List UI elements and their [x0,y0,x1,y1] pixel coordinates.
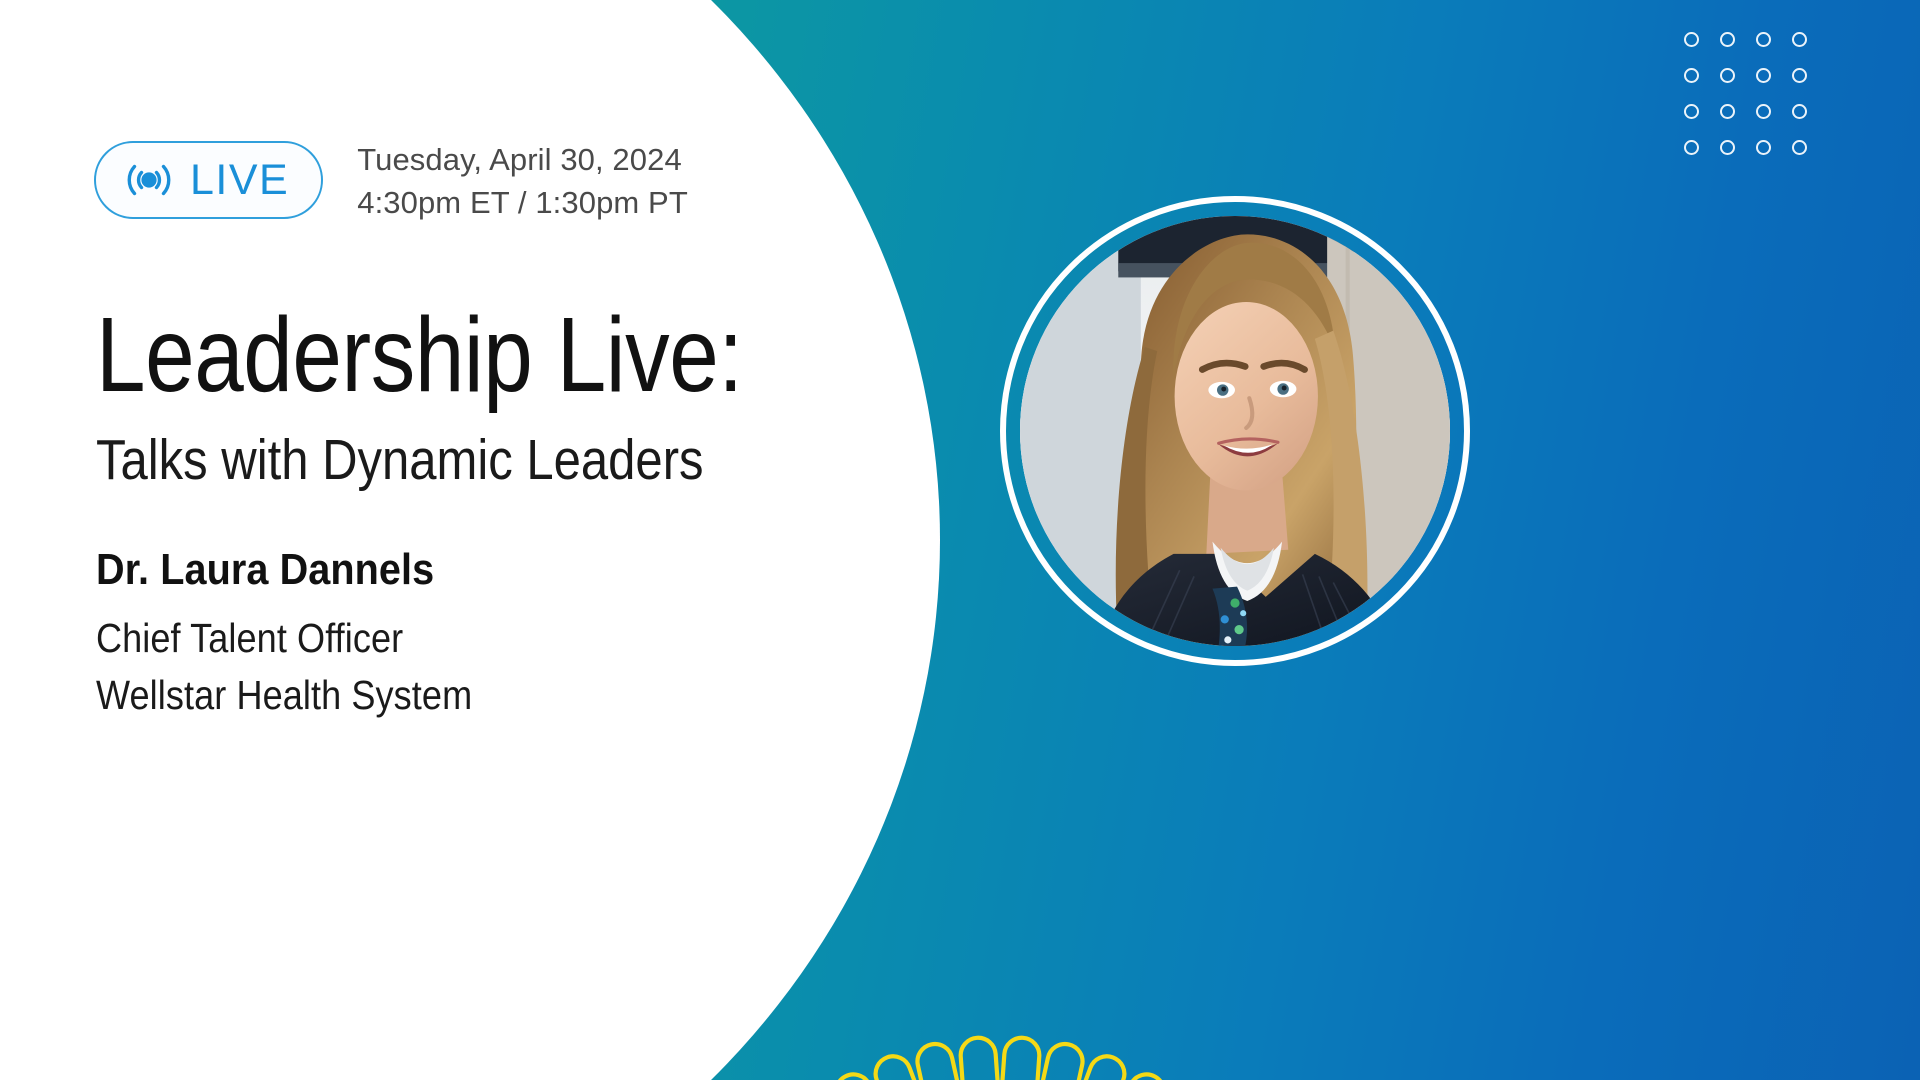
page-subtitle: Talks with Dynamic Leaders [96,418,758,504]
portrait-photo [1020,216,1450,646]
grid-dot [1684,104,1699,119]
grid-dot [1684,140,1699,155]
grid-dot [1720,68,1735,83]
promo-banner: LIVE Tuesday, April 30, 2024 4:30pm ET /… [0,0,1920,1080]
grid-dot [1720,140,1735,155]
title-block: Leadership Live: Talks with Dynamic Lead… [96,300,866,504]
speaker-portrait-ring [1000,196,1470,666]
badge-and-schedule-row: LIVE Tuesday, April 30, 2024 4:30pm ET /… [94,138,688,222]
event-time: 4:30pm ET / 1:30pm PT [357,183,688,223]
grid-dot [1792,140,1807,155]
grid-dot [1756,104,1771,119]
speaker-organization: Wellstar Health System [96,667,472,724]
event-date: Tuesday, April 30, 2024 [357,140,688,180]
speaker-role: Chief Talent Officer [96,610,472,667]
grid-dot [1792,104,1807,119]
content-column: LIVE Tuesday, April 30, 2024 4:30pm ET /… [94,0,894,1080]
grid-dot [1756,140,1771,155]
broadcast-signal-icon [122,157,176,203]
avatar [1020,216,1450,646]
speaker-block: Dr. Laura Dannels Chief Talent Officer W… [96,544,524,725]
grid-dot [1720,104,1735,119]
schedule-block: Tuesday, April 30, 2024 4:30pm ET / 1:30… [357,138,688,222]
grid-dot [1756,32,1771,47]
grid-dot [1792,32,1807,47]
grid-dot [1684,68,1699,83]
live-badge-label: LIVE [190,159,289,202]
dot-grid-decoration [1684,32,1828,176]
page-title: Leadership Live: [96,300,743,410]
grid-dot [1684,32,1699,47]
grid-dot [1720,32,1735,47]
live-badge[interactable]: LIVE [94,141,323,219]
speaker-name: Dr. Laura Dannels [96,544,481,596]
grid-dot [1756,68,1771,83]
grid-dot [1792,68,1807,83]
